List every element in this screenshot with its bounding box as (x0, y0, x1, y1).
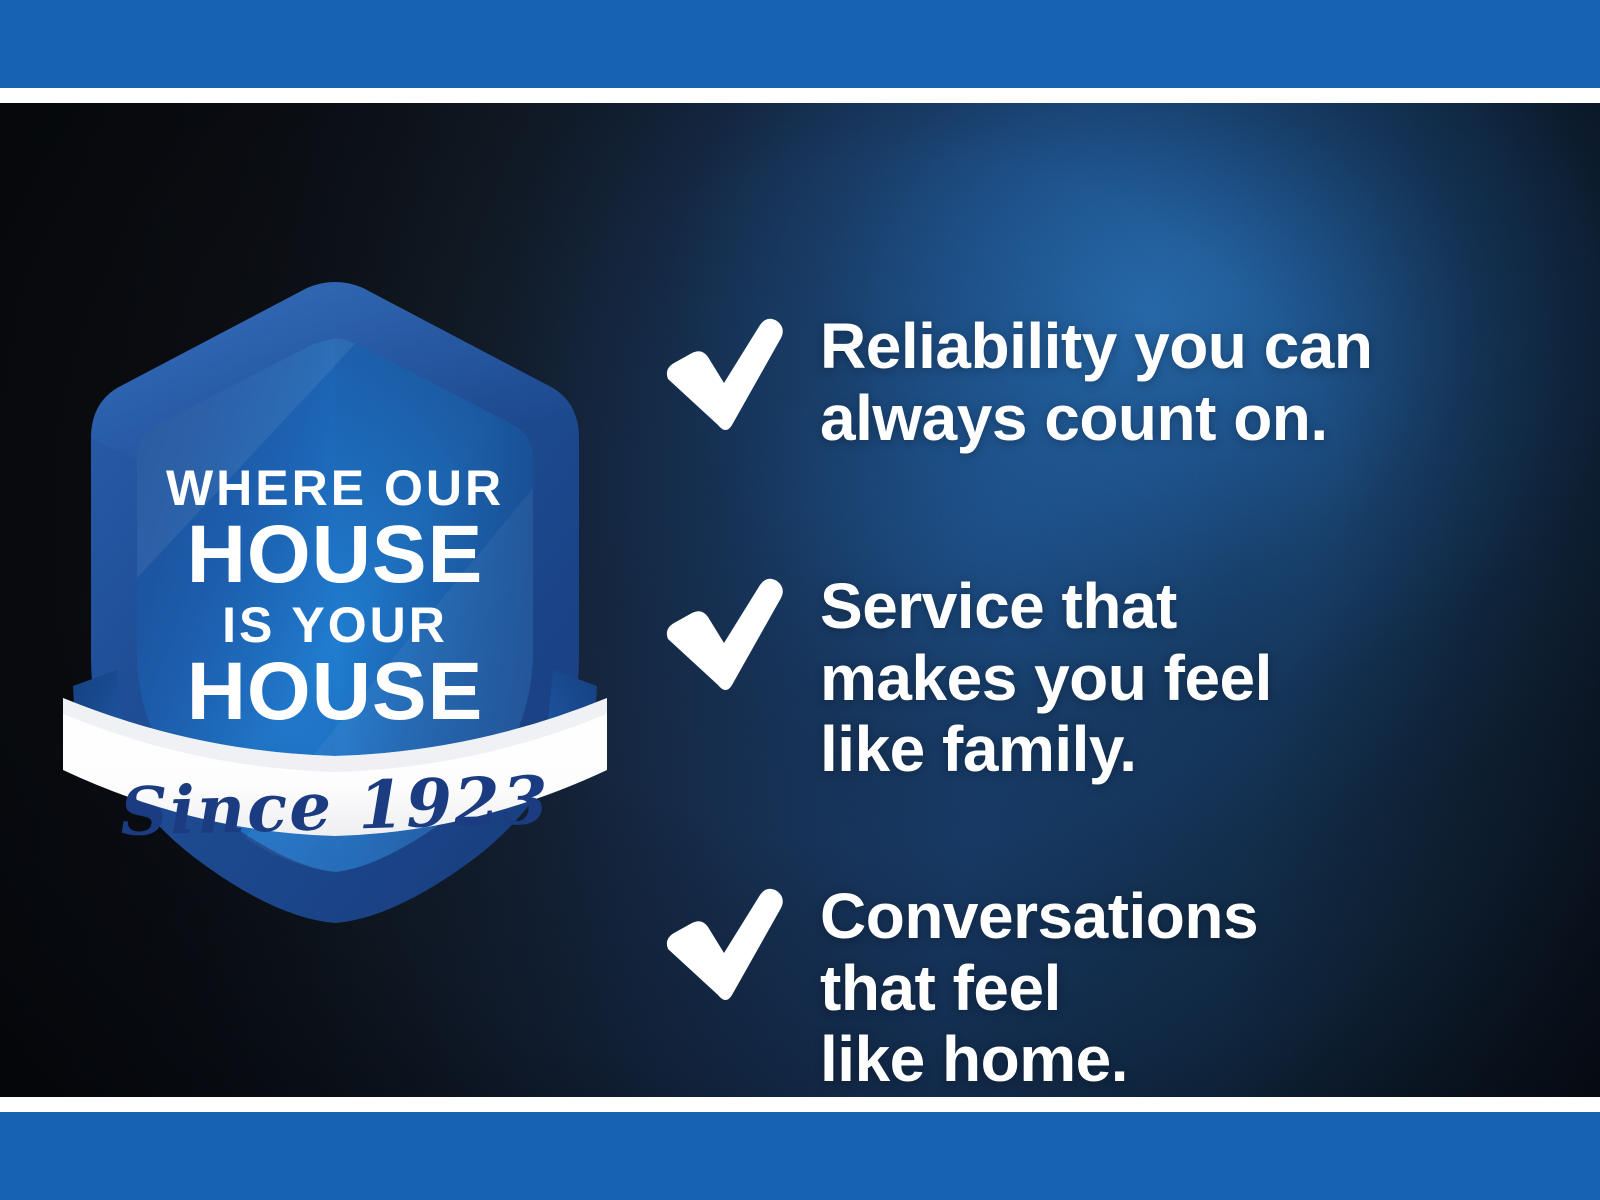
check-icon (660, 577, 786, 695)
shield-line-4: HOUSE (55, 651, 615, 733)
shield-logo: WHERE OUR HOUSE IS YOUR HOUSE Since 1923 (55, 278, 615, 923)
benefit-text: Reliability you can always count on. (820, 311, 1372, 454)
bottom-divider-line (0, 1097, 1600, 1112)
ribbon-since-text: Since 1923 (54, 759, 616, 853)
benefit-item: Service that makes you feel like family. (660, 571, 1540, 786)
check-icon (660, 887, 786, 1005)
top-border-band (0, 0, 1600, 88)
benefits-list: Reliability you can always count on. Ser… (660, 206, 1540, 1097)
shield-line-1: WHERE OUR (55, 463, 615, 513)
content-stage: WHERE OUR HOUSE IS YOUR HOUSE Since 1923… (0, 103, 1600, 1097)
shield-line-3: IS YOUR (55, 600, 615, 650)
bottom-border-band (0, 1112, 1600, 1200)
benefit-item: Conversations that feel like home. (660, 881, 1540, 1096)
benefit-item: Reliability you can always count on. (660, 311, 1540, 454)
benefit-text: Conversations that feel like home. (820, 881, 1258, 1096)
check-icon (660, 317, 786, 435)
top-divider-line (0, 88, 1600, 103)
shield-line-2: HOUSE (55, 514, 615, 596)
benefit-text: Service that makes you feel like family. (820, 571, 1272, 786)
promo-graphic: WHERE OUR HOUSE IS YOUR HOUSE Since 1923… (0, 0, 1600, 1200)
